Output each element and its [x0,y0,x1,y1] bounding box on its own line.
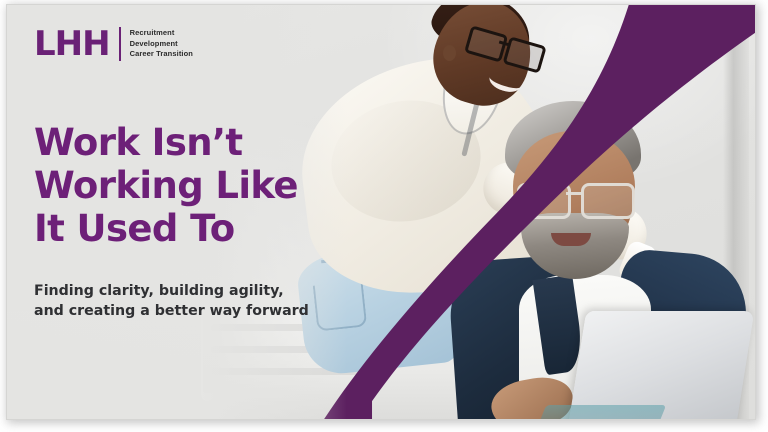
lhh-logo[interactable]: LHH Recruitment Development Career Trans… [34,27,193,61]
subhead-line-2: and creating a better way forward [34,301,324,321]
headline-line-1: Work Isn’t [34,122,334,165]
logo-wordmark: LHH [34,27,110,61]
logo-tagline-line-2: Development [130,40,193,49]
slide-headline: Work Isn’t Working Like It Used To [34,122,334,251]
presentation-slide: LHH Recruitment Development Career Trans… [6,4,756,420]
headline-line-2: Working Like [34,165,334,208]
slide-subhead: Finding clarity, building agility, and c… [34,281,324,321]
logo-divider [119,27,121,61]
headline-line-3: It Used To [34,208,334,251]
logo-tagline: Recruitment Development Career Transitio… [130,29,193,60]
logo-tagline-line-3: Career Transition [130,50,193,59]
slide-stage: LHH Recruitment Development Career Trans… [0,0,768,432]
subhead-line-1: Finding clarity, building agility, [34,281,324,301]
logo-tagline-line-1: Recruitment [130,29,193,38]
swoosh-path [324,5,755,419]
